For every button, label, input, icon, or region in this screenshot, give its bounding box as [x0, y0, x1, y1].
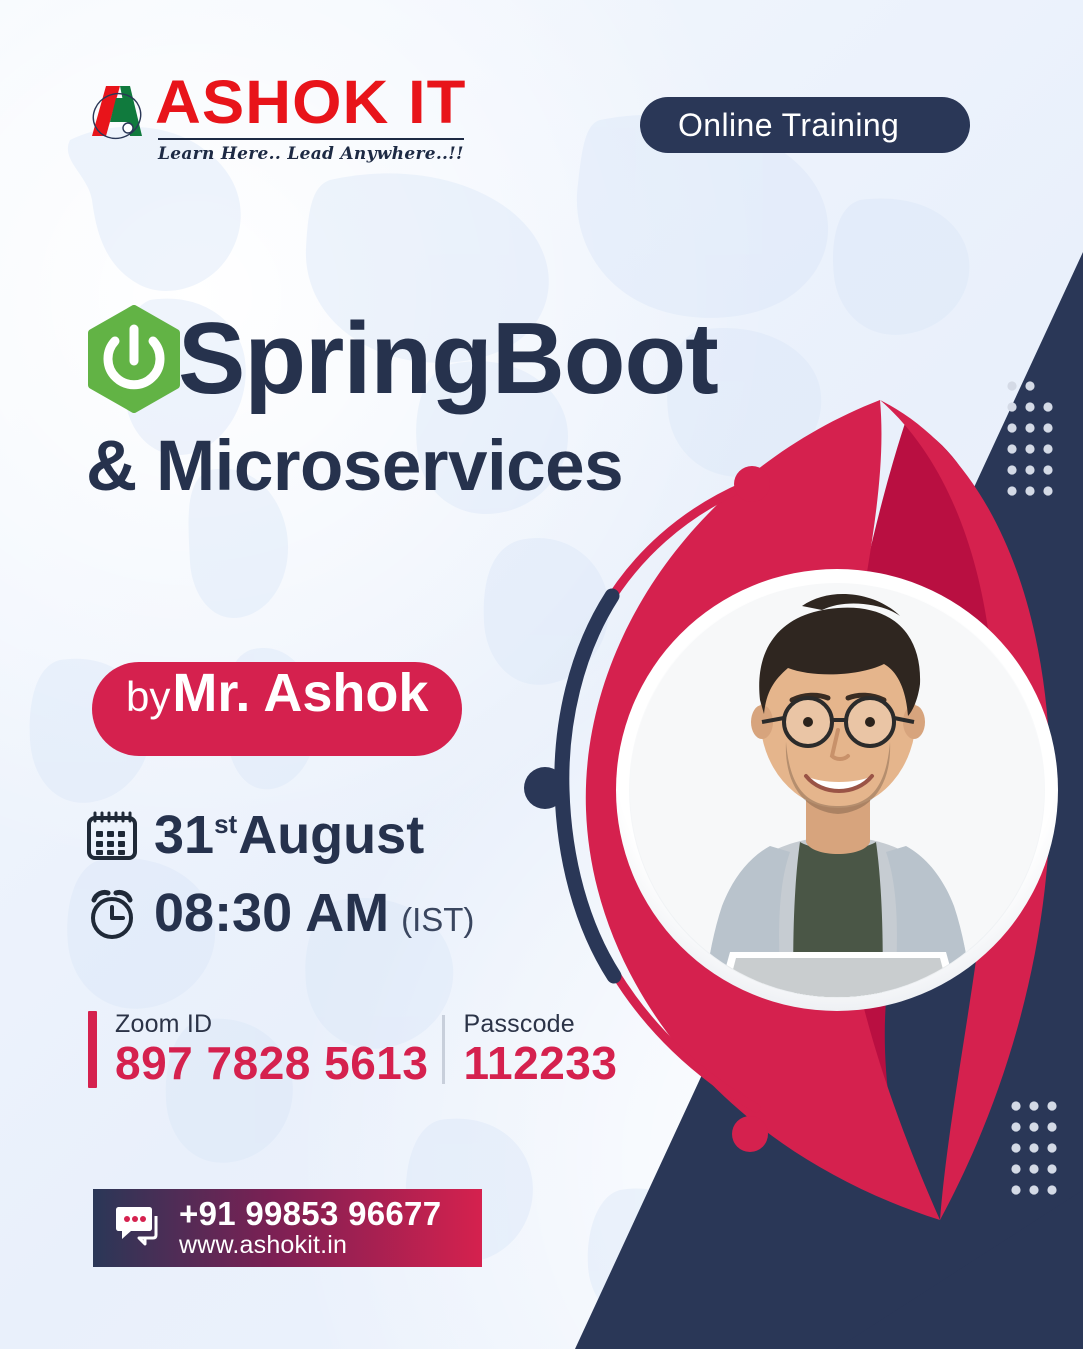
contact-bar[interactable]: +91 99853 96677 www.ashokit.in	[93, 1189, 482, 1267]
credentials-divider	[442, 1015, 445, 1084]
schedule-time: 08:30 AM	[154, 886, 389, 940]
schedule-month: August	[238, 808, 424, 862]
accent-bar	[88, 1011, 97, 1088]
ashokit-monogram-icon	[86, 78, 148, 144]
schedule-block: 31stAugust 08:30 AM (IST)	[84, 802, 474, 946]
schedule-date-row: 31stAugust	[84, 802, 474, 868]
training-poster: ASHOK IT Learn Here.. Lead Anywhere..!! …	[0, 0, 1083, 1349]
zoom-id-group: Zoom ID 897 7828 5613	[115, 1011, 428, 1088]
zoom-id-value: 897 7828 5613	[115, 1039, 428, 1089]
course-title: SpringBoot	[178, 309, 718, 410]
schedule-ordinal: st	[214, 811, 237, 837]
logo-divider	[158, 138, 464, 140]
course-subtitle: & Microservices	[86, 431, 884, 502]
schedule-timezone: (IST)	[401, 903, 474, 936]
zoom-id-label: Zoom ID	[115, 1011, 428, 1039]
schedule-day: 31	[154, 808, 214, 862]
course-headline: SpringBoot & Microservices	[84, 305, 884, 502]
calendar-icon	[84, 807, 140, 863]
presenter-badge: by Mr. Ashok	[92, 662, 462, 756]
passcode-value: 112233	[463, 1039, 617, 1089]
contact-phone: +91 99853 96677	[179, 1196, 441, 1232]
alarm-clock-icon	[84, 885, 140, 941]
schedule-time-row: 08:30 AM (IST)	[84, 880, 474, 946]
brand-logo[interactable]: ASHOK IT Learn Here.. Lead Anywhere..!!	[86, 72, 464, 164]
passcode-label: Passcode	[463, 1011, 617, 1039]
presenter-name: Mr. Ashok	[172, 662, 428, 724]
passcode-group: Passcode 112233	[463, 1011, 617, 1088]
springboot-leaf-icon	[84, 305, 184, 413]
zoom-credentials: Zoom ID 897 7828 5613 Passcode 112233	[88, 1011, 617, 1088]
online-training-label: Online Training	[678, 107, 899, 144]
contact-website: www.ashokit.in	[179, 1231, 441, 1260]
online-training-badge: Online Training	[640, 97, 970, 153]
chat-bubble-icon	[113, 1206, 165, 1250]
presenter-prefix: by	[126, 673, 170, 721]
logo-wordmark: ASHOK IT	[155, 72, 466, 133]
logo-tagline: Learn Here.. Lead Anywhere..!!	[158, 144, 464, 164]
